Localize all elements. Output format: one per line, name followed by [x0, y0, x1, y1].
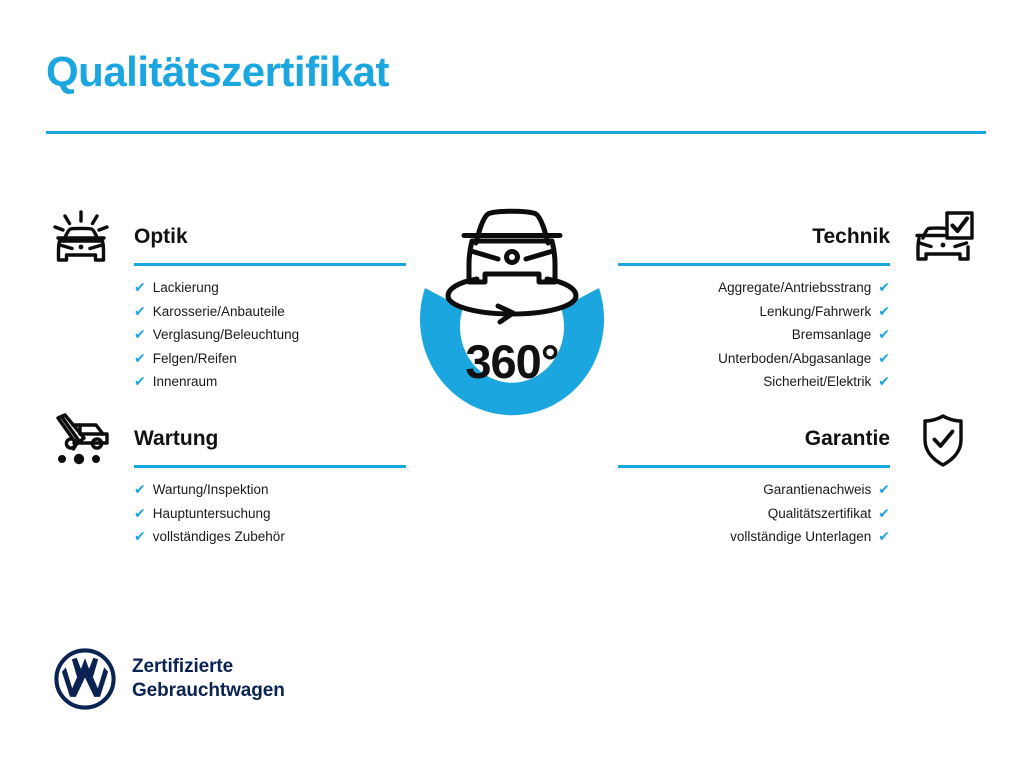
- technik-heading: Technik: [618, 222, 978, 268]
- car-rotate-360-icon: [448, 211, 576, 322]
- check-icon: ✔: [134, 370, 146, 393]
- optik-list: ✔Lackierung ✔Karosserie/Anbauteile ✔Verg…: [46, 276, 406, 394]
- technik-divider: [618, 263, 890, 266]
- list-item-label: Bremsanlage: [792, 327, 872, 342]
- optik-divider: [134, 263, 406, 266]
- section-optik: Optik ✔Lackierung ✔Karosserie/Anbauteile…: [46, 222, 406, 394]
- list-item-label: Unterboden/Abgasanlage: [718, 351, 871, 366]
- check-icon: ✔: [878, 323, 890, 346]
- check-icon: ✔: [134, 478, 146, 501]
- list-item-label: Verglasung/Beleuchtung: [153, 327, 299, 342]
- optik-title: Optik: [134, 222, 406, 252]
- list-item: Bremsanlage✔: [618, 323, 890, 347]
- list-item: Sicherheit/Elektrik✔: [618, 370, 890, 394]
- list-item-label: Felgen/Reifen: [153, 351, 237, 366]
- optik-block: Optik ✔Lackierung ✔Karosserie/Anbauteile…: [46, 222, 406, 394]
- check-icon: ✔: [134, 347, 146, 370]
- check-icon: ✔: [878, 525, 890, 548]
- check-icon: ✔: [878, 502, 890, 525]
- technik-list: Aggregate/Antriebsstrang✔ Lenkung/Fahrwe…: [618, 276, 978, 394]
- 360-check-badge: Gebrauchtwagen-Check 360°: [372, 196, 652, 486]
- optik-heading: Optik: [46, 222, 406, 268]
- wartung-heading: Wartung: [46, 424, 406, 470]
- check-icon: ✔: [134, 300, 146, 323]
- header-divider: [46, 131, 986, 134]
- list-item: ✔Lackierung: [134, 276, 406, 300]
- list-item: ✔Wartung/Inspektion: [134, 478, 406, 502]
- volkswagen-footer-wordmark: Zertifizierte Gebrauchtwagen: [132, 655, 285, 703]
- wartung-block: Wartung ✔Wartung/Inspektion ✔Hauptunters…: [46, 424, 406, 549]
- technik-block: Technik Aggregate/Antriebsstrang✔ Lenkun…: [618, 222, 978, 394]
- garantie-block: Garantie Garantienachweis✔ Qualitätszert…: [618, 424, 978, 549]
- list-item: ✔Karosserie/Anbauteile: [134, 300, 406, 324]
- list-item-label: Sicherheit/Elektrik: [763, 374, 871, 389]
- list-item-label: Lenkung/Fahrwerk: [759, 304, 871, 319]
- section-technik: Technik Aggregate/Antriebsstrang✔ Lenkun…: [618, 222, 978, 394]
- footer-line-1: Zertifizierte: [132, 655, 285, 679]
- footer-line-2: Gebrauchtwagen: [132, 679, 285, 703]
- list-item: ✔Felgen/Reifen: [134, 347, 406, 371]
- check-icon: ✔: [134, 525, 146, 548]
- wartung-divider: [134, 465, 406, 468]
- list-item-label: vollständiges Zubehör: [153, 529, 285, 544]
- section-wartung: Wartung ✔Wartung/Inspektion ✔Hauptunters…: [46, 424, 406, 549]
- list-item-label: vollständige Unterlagen: [730, 529, 871, 544]
- garantie-title: Garantie: [618, 424, 890, 454]
- list-item-label: Wartung/Inspektion: [153, 482, 269, 497]
- list-item-label: Innenraum: [153, 374, 218, 389]
- technik-title: Technik: [618, 222, 890, 252]
- list-item: ✔vollständiges Zubehör: [134, 525, 406, 549]
- check-icon: ✔: [134, 276, 146, 299]
- wartung-list: ✔Wartung/Inspektion ✔Hauptuntersuchung ✔…: [46, 478, 406, 549]
- garantie-divider: [618, 465, 890, 468]
- list-item: ✔Innenraum: [134, 370, 406, 394]
- list-item-label: Aggregate/Antriebsstrang: [718, 280, 871, 295]
- list-item: vollständige Unterlagen✔: [618, 525, 890, 549]
- check-icon: ✔: [878, 370, 890, 393]
- badge-number: 360°: [372, 336, 652, 388]
- check-icon: ✔: [878, 347, 890, 370]
- list-item-label: Lackierung: [153, 280, 219, 295]
- list-item-label: Qualitätszertifikat: [768, 506, 872, 521]
- list-item: ✔Verglasung/Beleuchtung: [134, 323, 406, 347]
- volkswagen-footer-logo: Zertifizierte Gebrauchtwagen: [54, 648, 285, 710]
- wartung-title: Wartung: [134, 424, 406, 454]
- list-item: ✔Hauptuntersuchung: [134, 502, 406, 526]
- garantie-heading: Garantie: [618, 424, 978, 470]
- header: Qualitätszertifikat: [46, 50, 986, 94]
- list-item: Unterboden/Abgasanlage✔: [618, 347, 890, 371]
- section-garantie: Garantie Garantienachweis✔ Qualitätszert…: [618, 424, 978, 549]
- check-icon: ✔: [134, 502, 146, 525]
- list-item: Garantienachweis✔: [618, 478, 890, 502]
- certificate-page: Qualitätszertifikat Optik: [0, 0, 1024, 768]
- list-item: Qualitätszertifikat✔: [618, 502, 890, 526]
- check-icon: ✔: [134, 323, 146, 346]
- check-icon: ✔: [878, 276, 890, 299]
- check-icon: ✔: [878, 478, 890, 501]
- check-icon: ✔: [878, 300, 890, 323]
- garantie-list: Garantienachweis✔ Qualitätszertifikat✔ v…: [618, 478, 978, 549]
- volkswagen-logo-icon: [54, 648, 116, 710]
- list-item-label: Karosserie/Anbauteile: [153, 304, 285, 319]
- list-item: Aggregate/Antriebsstrang✔: [618, 276, 890, 300]
- list-item-label: Hauptuntersuchung: [153, 506, 271, 521]
- list-item-label: Garantienachweis: [763, 482, 871, 497]
- list-item: Lenkung/Fahrwerk✔: [618, 300, 890, 324]
- page-title: Qualitätszertifikat: [46, 50, 986, 94]
